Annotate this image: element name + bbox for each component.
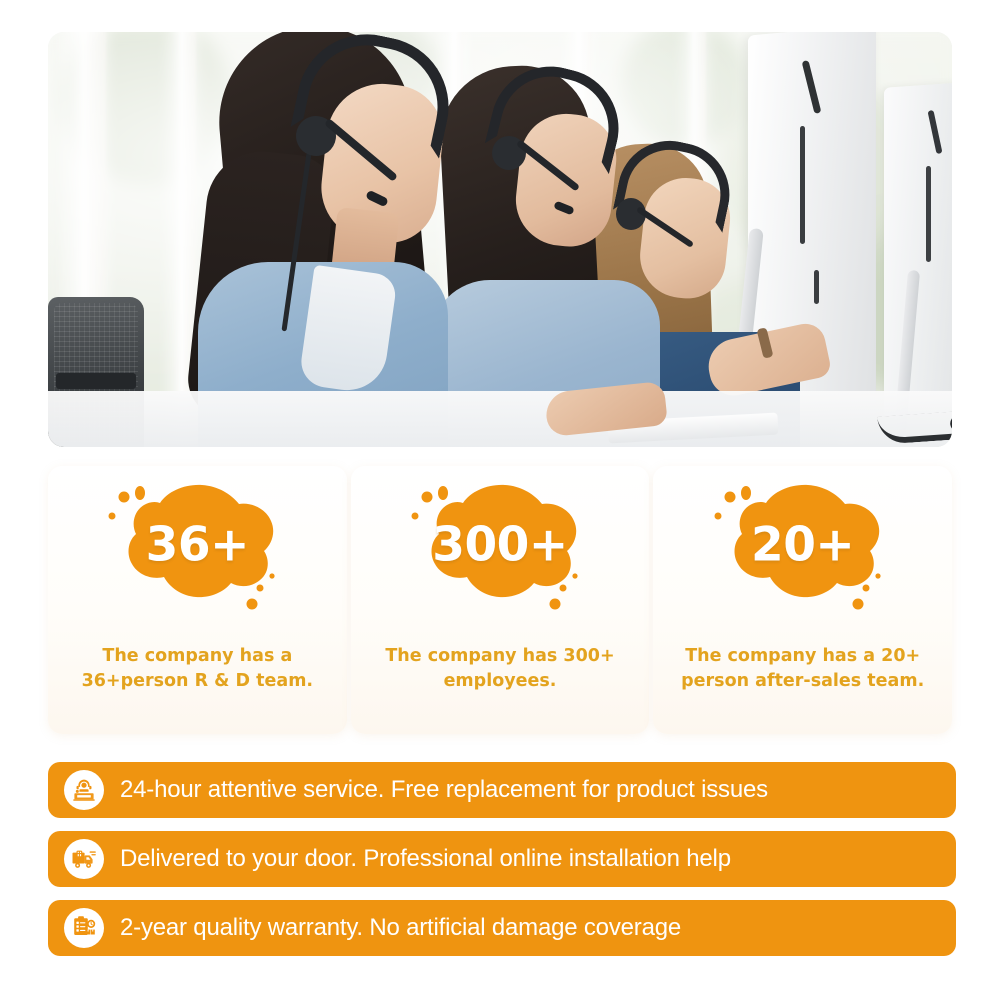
monitor-slot <box>800 126 805 244</box>
blob-wrap: 36+ <box>48 470 347 622</box>
service-bar-warranty[interactable]: 2-year quality warranty. No artificial d… <box>48 900 956 956</box>
stat-card-after-sales: 20+ The company has a 20+ person after-s… <box>653 466 952 734</box>
stat-caption: The company has 300+ employees. <box>361 644 640 695</box>
service-bar-text: 24-hour attentive service. Free replacem… <box>120 776 768 804</box>
stat-caption: The company has a 20+ person after-sales… <box>663 644 942 695</box>
hero-scene <box>48 32 952 447</box>
monitor-slot <box>814 270 819 304</box>
stat-caption-line2: person after-sales team. <box>681 671 924 691</box>
stat-card-employees: 300+ The company has 300+ employees. <box>351 466 650 734</box>
stat-caption: The company has a 36+person R & D team. <box>58 644 337 695</box>
clipboard-checklist-icon <box>64 908 104 948</box>
stat-caption-line2: employees. <box>444 671 557 691</box>
stat-value: 20+ <box>751 517 854 572</box>
service-bar-text: Delivered to your door. Professional onl… <box>120 845 731 873</box>
stat-caption-line2: 36+person R & D team. <box>82 671 314 691</box>
stat-value: 36+ <box>146 517 249 572</box>
stats-section: 36+ The company has a 36+person R & D te… <box>48 466 952 734</box>
hero-image <box>48 32 952 447</box>
stat-caption-line1: The company has a 20+ <box>685 646 920 666</box>
service-bar-delivery[interactable]: Delivered to your door. Professional onl… <box>48 831 956 887</box>
stat-card-rd-team: 36+ The company has a 36+person R & D te… <box>48 466 347 734</box>
service-bars-section: 24-hour attentive service. Free replacem… <box>48 762 956 956</box>
desk-surface <box>48 391 952 447</box>
stat-caption-line1: The company has 300+ <box>385 646 614 666</box>
stat-value: 300+ <box>432 517 568 572</box>
blob-wrap: 20+ <box>653 470 952 622</box>
customer-service-agent-icon <box>64 770 104 810</box>
stat-caption-line1: The company has a <box>102 646 292 666</box>
blob-wrap: 300+ <box>351 470 650 622</box>
delivery-truck-icon <box>64 839 104 879</box>
service-bar-text: 2-year quality warranty. No artificial d… <box>120 914 681 942</box>
monitor-icon <box>884 80 952 418</box>
promo-page: 36+ The company has a 36+person R & D te… <box>0 0 1000 1000</box>
service-bar-support[interactable]: 24-hour attentive service. Free replacem… <box>48 762 956 818</box>
monitor-slot <box>926 166 931 262</box>
